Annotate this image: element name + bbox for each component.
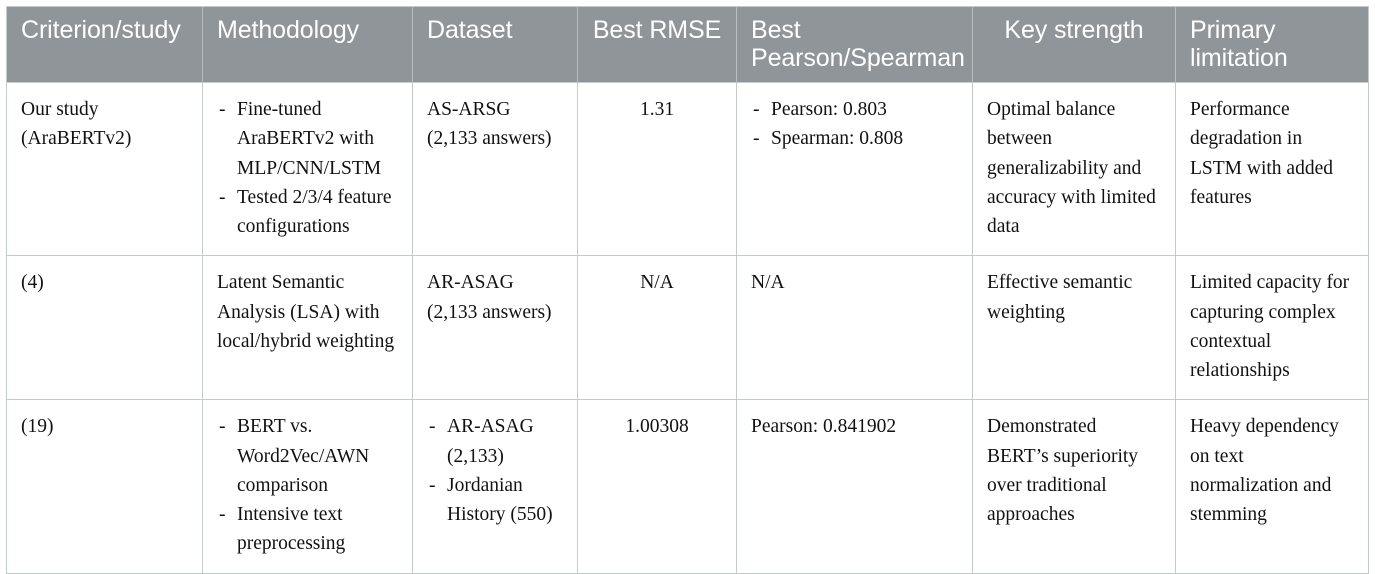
- cell-primary-limitation: Heavy dependency on text normalization a…: [1176, 400, 1369, 573]
- primary-limitation-text: Limited capacity for capturing complex c…: [1190, 268, 1354, 385]
- table-row: (19) BERT vs. Word2Vec/AWN comparison In…: [7, 400, 1369, 573]
- cell-dataset: AR-ASAG (2,133) Jordanian History (550): [413, 400, 578, 573]
- cell-best-pearson-spearman: Pearson: 0.841902: [737, 400, 973, 573]
- primary-limitation-text: Performance degradation in LSTM with add…: [1190, 95, 1354, 212]
- cell-methodology: BERT vs. Word2Vec/AWN comparison Intensi…: [203, 400, 413, 573]
- cell-key-strength: Demonstrated BERT’s superiority over tra…: [973, 400, 1176, 573]
- methodology-list: Fine-tuned AraBERTv2 with MLP/CNN/LSTM T…: [217, 95, 398, 241]
- table-row: Our study (AraBERTv2) Fine-tuned AraBERT…: [7, 83, 1369, 256]
- key-strength-text: Effective semantic weighting: [987, 268, 1161, 327]
- column-header-primary-limitation: Primary limitation: [1176, 7, 1369, 83]
- criterion-study-text: (4): [21, 268, 188, 297]
- list-item: Tested 2/3/4 feature configurations: [217, 183, 398, 242]
- column-header-methodology: Methodology: [203, 7, 413, 83]
- methodology-list: BERT vs. Word2Vec/AWN comparison Intensi…: [217, 412, 398, 558]
- cell-methodology: Fine-tuned AraBERTv2 with MLP/CNN/LSTM T…: [203, 83, 413, 256]
- cell-primary-limitation: Performance degradation in LSTM with add…: [1176, 83, 1369, 256]
- list-item: Intensive text preprocessing: [217, 500, 398, 559]
- cell-dataset: AR-ASAG (2,133 answers): [413, 256, 578, 400]
- table-body: Our study (AraBERTv2) Fine-tuned AraBERT…: [7, 83, 1369, 574]
- best-rmse-value: 1.00308: [592, 412, 722, 441]
- column-header-dataset: Dataset: [413, 7, 578, 83]
- column-header-criterion-study: Criterion/study: [7, 7, 203, 83]
- comparison-table-container: Criterion/study Methodology Dataset Best…: [6, 6, 1368, 470]
- comparison-table: Criterion/study Methodology Dataset Best…: [6, 6, 1369, 574]
- correlation-value: Pearson: 0.841902: [751, 412, 958, 441]
- cell-key-strength: Effective semantic weighting: [973, 256, 1176, 400]
- cell-methodology: Latent Semantic Analysis (LSA) with loca…: [203, 256, 413, 400]
- criterion-study-text: (19): [21, 412, 188, 441]
- criterion-study-text: Our study (AraBERTv2): [21, 95, 188, 154]
- cell-criterion-study: (19): [7, 400, 203, 573]
- key-strength-text: Demonstrated BERT’s superiority over tra…: [987, 412, 1161, 529]
- cell-best-pearson-spearman: Pearson: 0.803 Spearman: 0.808: [737, 83, 973, 256]
- list-item: AR-ASAG (2,133): [427, 412, 563, 471]
- cell-best-rmse: 1.00308: [578, 400, 737, 573]
- list-item: Spearman: 0.808: [751, 124, 958, 153]
- cell-criterion-study: Our study (AraBERTv2): [7, 83, 203, 256]
- cell-key-strength: Optimal balance between generalizability…: [973, 83, 1176, 256]
- cell-dataset: AS-ARSG (2,133 answers): [413, 83, 578, 256]
- table-row: (4) Latent Semantic Analysis (LSA) with …: [7, 256, 1369, 400]
- best-rmse-value: 1.31: [592, 95, 722, 124]
- primary-limitation-text: Heavy dependency on text normalization a…: [1190, 412, 1354, 529]
- correlation-value: N/A: [751, 268, 958, 297]
- cell-criterion-study: (4): [7, 256, 203, 400]
- cell-best-pearson-spearman: N/A: [737, 256, 973, 400]
- list-item: Fine-tuned AraBERTv2 with MLP/CNN/LSTM: [217, 95, 398, 183]
- dataset-text: AS-ARSG (2,133 answers): [427, 95, 563, 154]
- dataset-text: AR-ASAG (2,133 answers): [427, 268, 563, 327]
- column-header-key-strength: Key strength: [973, 7, 1176, 83]
- table-header-row: Criterion/study Methodology Dataset Best…: [7, 7, 1369, 83]
- column-header-best-rmse: Best RMSE: [578, 7, 737, 83]
- list-item: Pearson: 0.803: [751, 95, 958, 124]
- methodology-text: Latent Semantic Analysis (LSA) with loca…: [217, 268, 398, 356]
- best-rmse-value: N/A: [592, 268, 722, 297]
- cell-primary-limitation: Limited capacity for capturing complex c…: [1176, 256, 1369, 400]
- correlation-list: Pearson: 0.803 Spearman: 0.808: [751, 95, 958, 154]
- column-header-best-pearson-spearman: Best Pearson/Spearman: [737, 7, 973, 83]
- key-strength-text: Optimal balance between generalizability…: [987, 95, 1161, 241]
- list-item: BERT vs. Word2Vec/AWN comparison: [217, 412, 398, 500]
- cell-best-rmse: 1.31: [578, 83, 737, 256]
- cell-best-rmse: N/A: [578, 256, 737, 400]
- table-header: Criterion/study Methodology Dataset Best…: [7, 7, 1369, 83]
- dataset-list: AR-ASAG (2,133) Jordanian History (550): [427, 412, 563, 529]
